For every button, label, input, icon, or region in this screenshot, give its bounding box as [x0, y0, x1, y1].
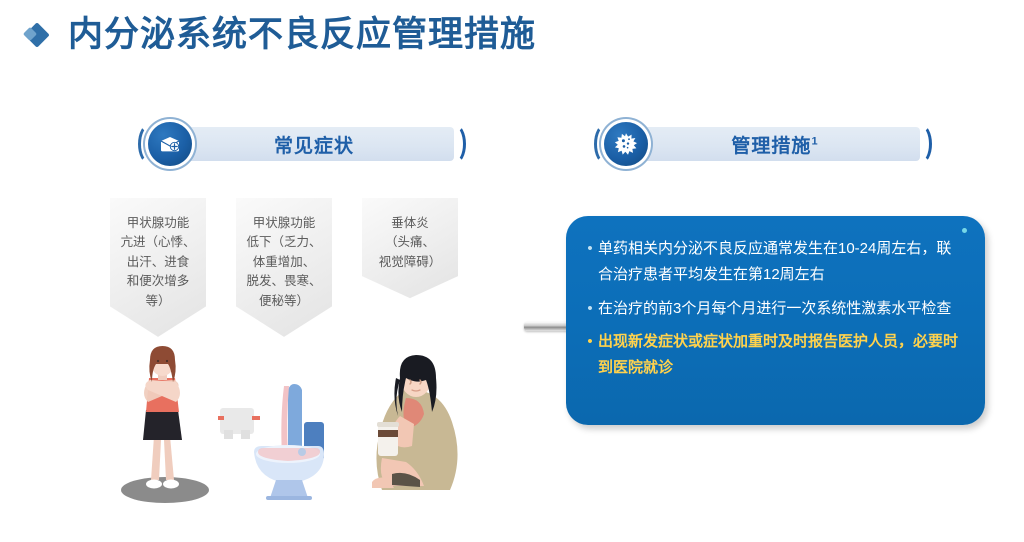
right-paren-decoration [910, 124, 932, 164]
symptom-card-text: 甲状腺功能 亢进（心悸、 出汗、进食 和便次增多 等） [110, 198, 206, 337]
symptom-card: 甲状腺功能 亢进（心悸、 出汗、进食 和便次增多 等） [110, 198, 206, 337]
bullet-marker: • [582, 329, 598, 355]
toilet-illustration [218, 360, 350, 500]
management-header-bar: 管理措施1 [610, 127, 920, 161]
section-header-management: 管理措施1 [582, 122, 932, 166]
management-panel: • 单药相关内分泌不良反应通常发生在10-24周左右，联合治疗患者平均发生在第1… [566, 216, 985, 425]
right-paren-decoration [444, 124, 466, 164]
woman-feeling-cold-illustration [104, 344, 226, 504]
symptoms-header-bar: 常见症状 [154, 127, 454, 161]
woman-with-blanket-illustration [348, 350, 478, 505]
bullet-text: 单药相关内分泌不良反应通常发生在10-24周左右，联合治疗患者平均发生在第12周… [598, 236, 963, 289]
bullet-text: 在治疗的前3个月每个月进行一次系统性激素水平检查 [598, 296, 963, 322]
list-item-highlighted: • 出现新发症状或症状加重时及时报告医护人员，必要时到医院就诊 [582, 329, 963, 382]
bullet-marker: • [582, 296, 598, 322]
slide-canvas: 内分泌系统不良反应管理措施 常见症状 管理措施1 [0, 0, 1024, 542]
panel-accent-dot [962, 228, 967, 233]
list-item: • 在治疗的前3个月每个月进行一次系统性激素水平检查 [582, 296, 963, 322]
virus-burst-icon [604, 122, 648, 166]
list-item: • 单药相关内分泌不良反应通常发生在10-24周左右，联合治疗患者平均发生在第1… [582, 236, 963, 289]
medical-bag-icon [148, 122, 192, 166]
page-title-text: 内分泌系统不良反应管理措施 [68, 16, 536, 55]
symptom-card: 垂体炎 （头痛、 视觉障碍） [362, 198, 458, 298]
bullet-marker: • [582, 236, 598, 262]
connector-bar [524, 322, 572, 331]
page-title: 内分泌系统不良反应管理措施 [24, 16, 536, 55]
diamond-icon [24, 22, 50, 48]
management-header-label: 管理措施1 [731, 131, 818, 158]
symptom-card-text: 垂体炎 （头痛、 视觉障碍） [362, 198, 458, 298]
symptom-card: 甲状腺功能 低下（乏力、 体重增加、 脱发、畏寒、 便秘等） [236, 198, 332, 337]
symptom-card-text: 甲状腺功能 低下（乏力、 体重增加、 脱发、畏寒、 便秘等） [236, 198, 332, 337]
management-bullet-list: • 单药相关内分泌不良反应通常发生在10-24周左右，联合治疗患者平均发生在第1… [582, 236, 963, 381]
symptoms-header-label: 常见症状 [274, 131, 354, 158]
section-header-symptoms: 常见症状 [126, 122, 466, 166]
bullet-text: 出现新发症状或症状加重时及时报告医护人员，必要时到医院就诊 [598, 329, 963, 382]
